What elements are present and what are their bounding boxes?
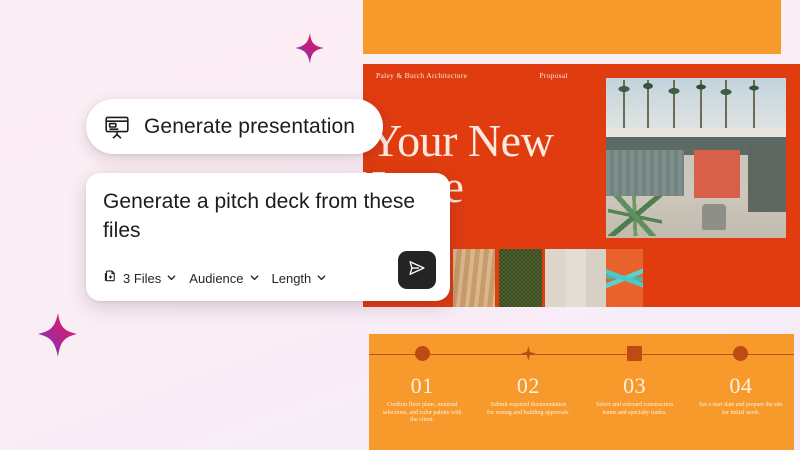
photo-midcentury-house xyxy=(606,78,786,238)
audience-chip-label: Audience xyxy=(189,271,243,286)
swatch-tile-2 xyxy=(566,249,586,307)
send-button[interactable] xyxy=(398,251,436,289)
generate-presentation-label: Generate presentation xyxy=(144,115,355,139)
timeline-step: 02 Submit required documentation for zon… xyxy=(475,334,581,450)
photo-roofline xyxy=(606,128,786,137)
length-chip[interactable]: Length xyxy=(272,271,328,286)
swatch-wood xyxy=(453,249,495,307)
files-chip[interactable]: 3 Files xyxy=(103,269,177,287)
slide-brand: Paley & Burch Architecture xyxy=(376,71,467,80)
timeline-marker-diamond-icon xyxy=(521,346,536,361)
send-icon xyxy=(406,257,428,284)
timeline-marker-circle-icon xyxy=(733,346,748,361)
prompt-input[interactable]: Generate a pitch deck from these files xyxy=(103,187,423,245)
swatch-agave-photo xyxy=(606,249,643,307)
prompt-options: 3 Files Audience Length xyxy=(103,269,327,287)
files-chip-label: 3 Files xyxy=(123,271,161,286)
photo-fence-left xyxy=(606,150,684,196)
timeline-step-number: 01 xyxy=(369,375,475,397)
timeline-step-number: 04 xyxy=(688,375,794,397)
chevron-down-icon xyxy=(166,271,177,286)
timeline-marker-circle-icon xyxy=(415,346,430,361)
swatch-green-textile xyxy=(499,249,541,307)
audience-chip[interactable]: Audience xyxy=(189,271,259,286)
slide-moodboard[interactable] xyxy=(363,0,781,54)
timeline-step-description: Confirm floor plans, material selections… xyxy=(380,402,464,425)
material-swatches xyxy=(453,249,643,307)
slide-headline-line1: Your New xyxy=(369,115,553,166)
timeline-step-number: 03 xyxy=(582,375,688,397)
timeline-step-description: Select and onboard construction teams an… xyxy=(593,402,677,417)
photo-agave xyxy=(608,196,662,236)
prompt-card[interactable]: Generate a pitch deck from these files 3… xyxy=(86,173,450,301)
chevron-down-icon xyxy=(249,271,260,286)
presentation-icon xyxy=(104,114,130,140)
generate-presentation-button[interactable]: Generate presentation xyxy=(86,99,383,154)
timeline-step-description: Submit required documentation for zoning… xyxy=(486,402,570,417)
timeline-step-description: Set a start date and prepare the site fo… xyxy=(699,402,783,417)
swatch-tile-1 xyxy=(545,249,565,307)
timeline-step: 04 Set a start date and prepare the site… xyxy=(688,334,794,450)
chevron-down-icon xyxy=(316,271,327,286)
timeline-step: 01 Confirm floor plans, material selecti… xyxy=(369,334,475,450)
sparkle-icon-bottom xyxy=(36,313,78,358)
timeline-step: 03 Select and onboard construction teams… xyxy=(582,334,688,450)
photo-boulder xyxy=(702,204,726,230)
timeline-marker-square-icon xyxy=(627,346,642,361)
photo-palm-trees xyxy=(606,80,786,130)
timeline-step-number: 02 xyxy=(475,375,581,397)
slide-timeline[interactable]: 01 Confirm floor plans, material selecti… xyxy=(369,334,794,450)
length-chip-label: Length xyxy=(272,271,312,286)
photo-red-door xyxy=(694,150,740,198)
attach-file-icon xyxy=(103,269,118,287)
slide-kind: Proposal xyxy=(539,71,568,80)
swatch-tile-3 xyxy=(586,249,606,307)
sparkle-icon-top xyxy=(294,33,324,65)
timeline-steps: 01 Confirm floor plans, material selecti… xyxy=(369,334,794,450)
screenshot-stage: Paley & Burch Architecture Proposal Your… xyxy=(0,0,800,450)
photo-fence-right xyxy=(748,144,786,212)
